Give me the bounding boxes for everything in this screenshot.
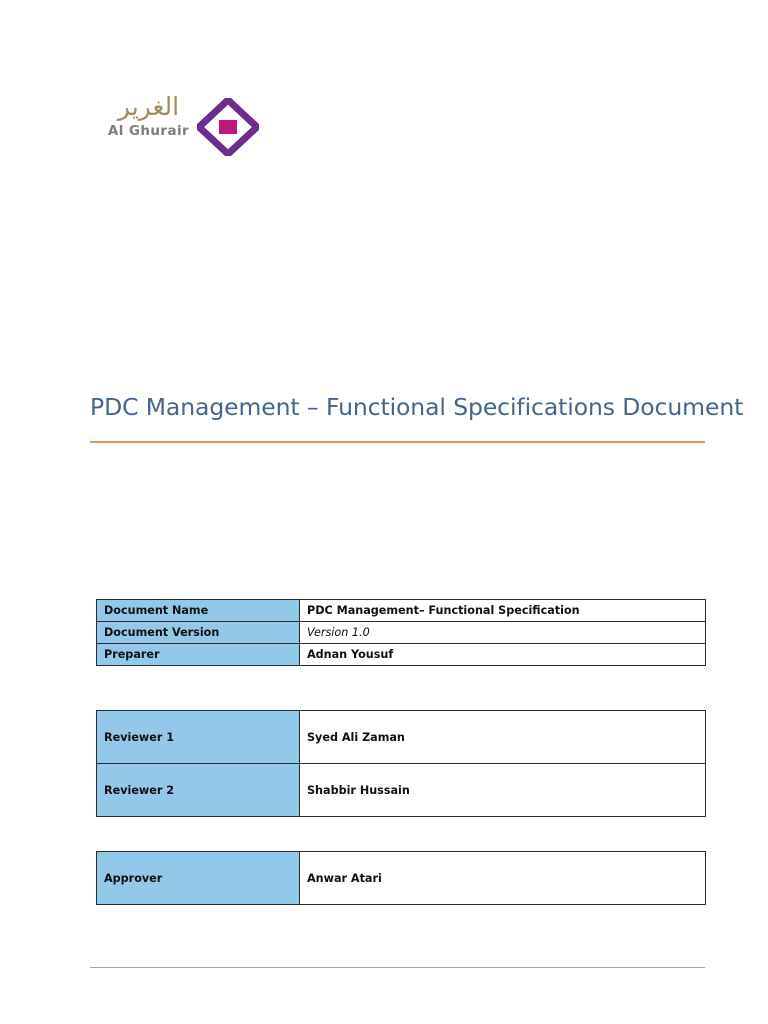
footer-separator-rule xyxy=(90,967,705,968)
row-value-document-version: Version 1.0 xyxy=(300,622,706,644)
logo-latin-name: Al Ghurair xyxy=(100,123,197,139)
document-info-table: Document Name PDC Management– Functional… xyxy=(96,599,706,666)
row-value-reviewer-2: Shabbir Hussain xyxy=(300,764,706,817)
reviewers-table: Reviewer 1 Syed Ali Zaman Reviewer 2 Sha… xyxy=(96,710,706,817)
row-label-document-name: Document Name xyxy=(97,600,300,622)
title-underline-rule xyxy=(90,441,705,443)
document-page: الغرير Al Ghurair PDC Management – Funct… xyxy=(0,0,768,1024)
diamond-mark-icon xyxy=(197,98,259,156)
table-row: Document Version Version 1.0 xyxy=(97,622,706,644)
table-row: Document Name PDC Management– Functional… xyxy=(97,600,706,622)
table-row: Reviewer 1 Syed Ali Zaman xyxy=(97,711,706,764)
row-value-approver: Anwar Atari xyxy=(300,852,706,905)
row-label-reviewer-2: Reviewer 2 xyxy=(97,764,300,817)
row-value-document-name: PDC Management– Functional Specification xyxy=(300,600,706,622)
row-value-preparer: Adnan Yousuf xyxy=(300,644,706,666)
row-label-preparer: Preparer xyxy=(97,644,300,666)
logo-text: الغرير Al Ghurair xyxy=(100,92,197,139)
table-row: Preparer Adnan Yousuf xyxy=(97,644,706,666)
page-title: PDC Management – Functional Specificatio… xyxy=(90,392,710,422)
row-label-document-version: Document Version xyxy=(97,622,300,644)
row-value-reviewer-1: Syed Ali Zaman xyxy=(300,711,706,764)
al-ghurair-logo: الغرير Al Ghurair xyxy=(100,92,275,162)
table-row: Reviewer 2 Shabbir Hussain xyxy=(97,764,706,817)
table-row: Approver Anwar Atari xyxy=(97,852,706,905)
row-label-reviewer-1: Reviewer 1 xyxy=(97,711,300,764)
row-label-approver: Approver xyxy=(97,852,300,905)
approver-table: Approver Anwar Atari xyxy=(96,851,706,905)
logo-arabic-name: الغرير xyxy=(100,92,197,122)
